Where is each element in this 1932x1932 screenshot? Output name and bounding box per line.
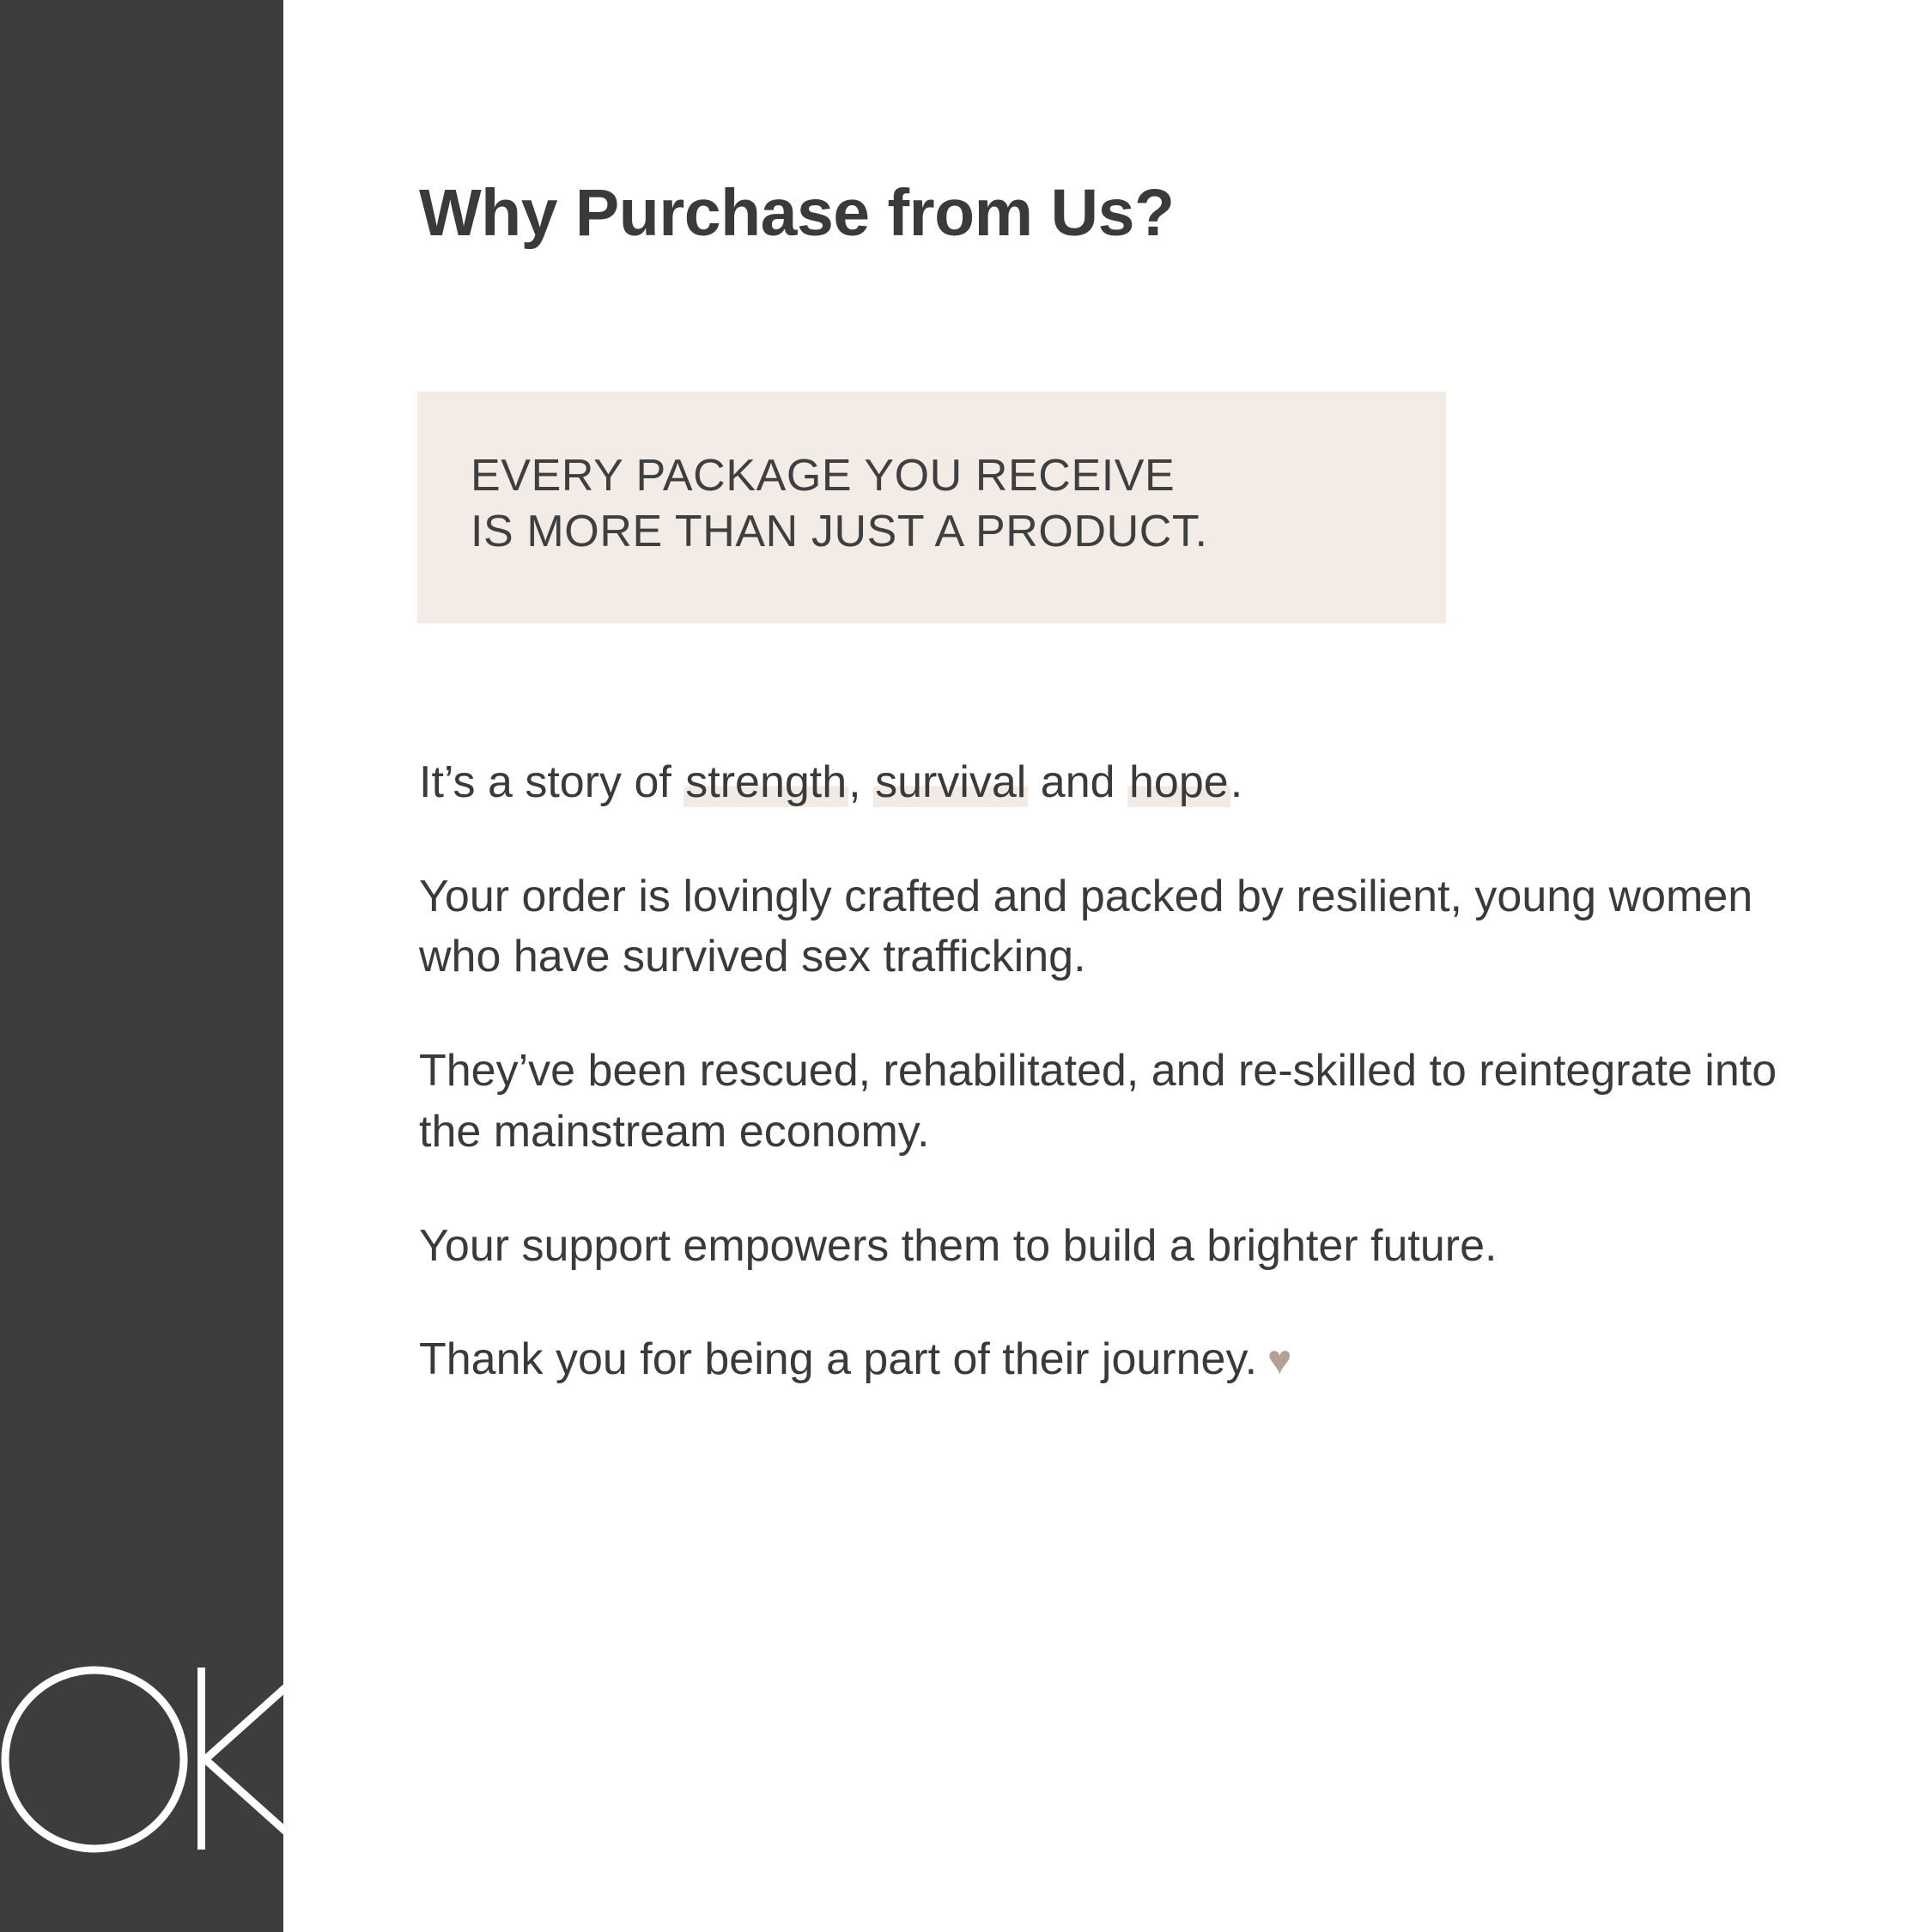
highlight-strength: strength: [683, 757, 848, 807]
heart-icon: ♥: [1257, 1338, 1292, 1383]
tagline-sep-1: ,: [848, 757, 873, 807]
tagline-sep-2: and: [1028, 757, 1127, 807]
body-copy: It’s a story of strength, survival and h…: [419, 752, 1879, 1390]
paragraph-tagline: It’s a story of strength, survival and h…: [419, 752, 1844, 813]
highlight-survival: survival: [873, 757, 1028, 807]
brand-logo-mark: [0, 1642, 283, 1899]
slide-canvas: Why Purchase from Us? EVERY PACKAGE YOU …: [0, 0, 1932, 1932]
paragraph-closing: Thank you for being a part of their jour…: [419, 1329, 1844, 1390]
paragraph-crafted-by-survivors: Your order is lovingly crafted and packe…: [419, 866, 1844, 987]
brand-sidebar: [0, 0, 283, 1932]
paragraph-support-empowers: Your support empowers them to build a br…: [419, 1216, 1844, 1277]
tagline-lead: It’s a story of: [419, 757, 683, 807]
callout-line-2: IS MORE THAN JUST A PRODUCT.: [471, 504, 1446, 560]
content-column: Why Purchase from Us? EVERY PACKAGE YOU …: [419, 0, 1879, 1932]
highlight-hope: hope: [1127, 757, 1230, 807]
callout-box: EVERY PACKAGE YOU RECEIVE IS MORE THAN J…: [417, 392, 1446, 623]
callout-line-1: EVERY PACKAGE YOU RECEIVE: [471, 448, 1446, 504]
tagline-tail: .: [1230, 757, 1242, 807]
closing-text: Thank you for being a part of their jour…: [419, 1334, 1257, 1384]
page-title: Why Purchase from Us?: [419, 179, 1174, 249]
paragraph-rescued-reskilled: They’ve been rescued, rehabilitated, and…: [419, 1041, 1844, 1162]
